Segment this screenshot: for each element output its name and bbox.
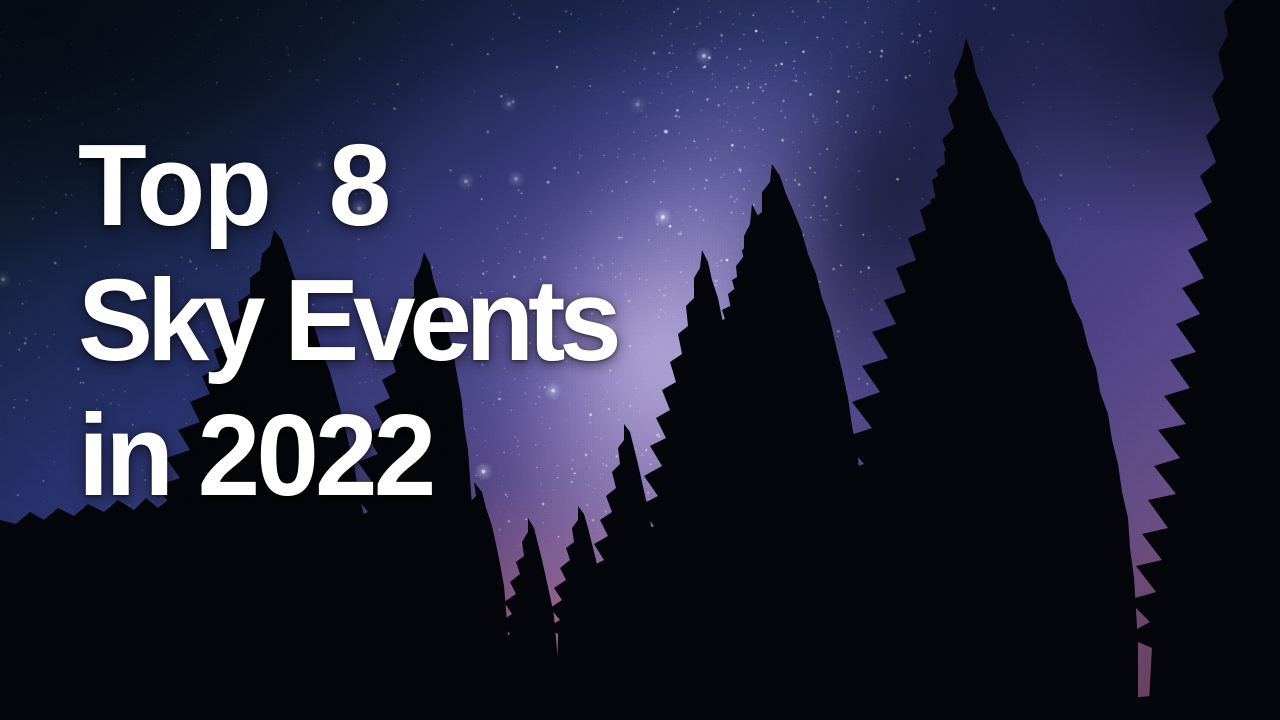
title-line-3: in 2022 xyxy=(78,388,615,523)
tree-right-top xyxy=(1124,0,1280,720)
title-line-1: Top 8 xyxy=(78,118,615,253)
youtube-thumbnail: Top 8 Sky Events in 2022 xyxy=(0,0,1280,720)
title-block: Top 8 Sky Events in 2022 xyxy=(78,118,632,523)
title-line-2: Sky Events xyxy=(78,253,615,388)
